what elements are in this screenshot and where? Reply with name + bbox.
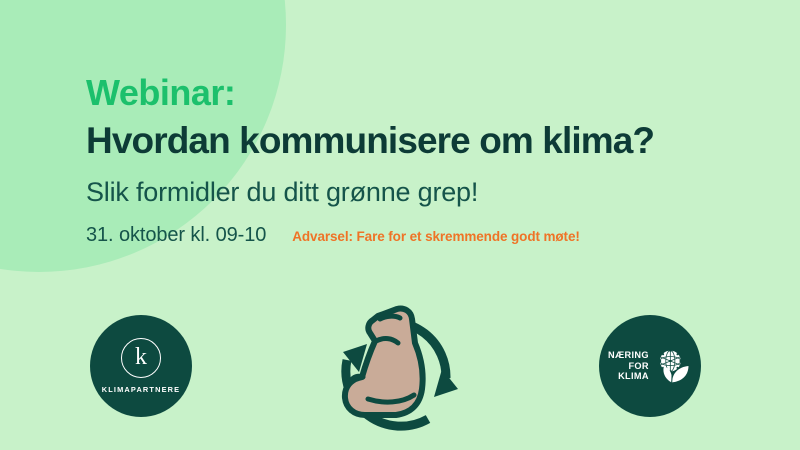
klimapartnere-k-icon: k [121,338,161,378]
logo-naering-for-klima: NÆRING FOR KLIMA [599,315,701,417]
wordmark-line-2: FOR [628,361,648,372]
eyebrow-label: Webinar: [86,74,746,112]
page-title: Hvordan kommunisere om klima? [86,121,746,162]
logo-klimapartnere: k KLIMAPARTNERE [90,315,192,417]
naering-for-klima-wordmark: NÆRING FOR KLIMA [608,350,649,382]
event-datetime: 31. oktober kl. 09-10 [86,224,266,247]
klimapartnere-k-glyph: k [135,345,147,369]
klimapartnere-lockup: k KLIMAPARTNERE [102,338,180,394]
date-and-warning-row: 31. oktober kl. 09-10 Advarsel: Fare for… [86,224,746,247]
flexed-arm-recycle-icon [318,303,482,437]
wordmark-line-3: KLIMA [618,371,649,382]
subtitle: Slik formidler du ditt grønne grep! [86,177,746,208]
naering-for-klima-lockup: NÆRING FOR KLIMA [599,346,701,386]
warning-badge: Advarsel: Fare for et skremmende godt mø… [292,229,580,244]
poster-text-block: Webinar: Hvordan kommunisere om klima? S… [86,74,746,247]
klimapartnere-wordmark: KLIMAPARTNERE [102,385,180,394]
webinar-poster: Webinar: Hvordan kommunisere om klima? S… [0,0,800,450]
globe-leaves-emblem [654,346,692,386]
wordmark-line-1: NÆRING [608,350,649,361]
